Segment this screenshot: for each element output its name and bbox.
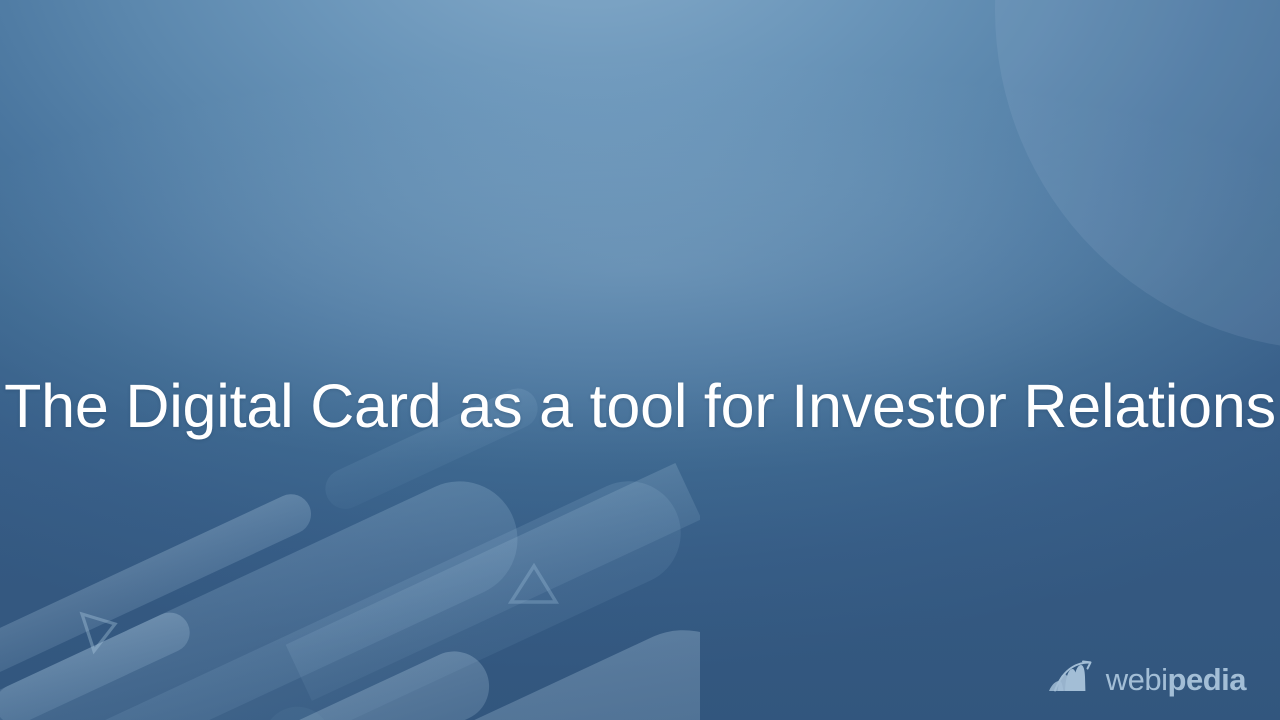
webipedia-wave-arrow-icon: [1048, 660, 1100, 698]
logo-wordmark: webipedia: [1106, 664, 1246, 695]
logo-text-bold: pedia: [1168, 664, 1246, 695]
title-slide: The Digital Card as a tool for Investor …: [0, 0, 1280, 720]
webipedia-logo: webipedia: [1048, 660, 1246, 698]
page-title: The Digital Card as a tool for Investor …: [0, 371, 1280, 442]
logo-text-light: webi: [1106, 664, 1168, 695]
